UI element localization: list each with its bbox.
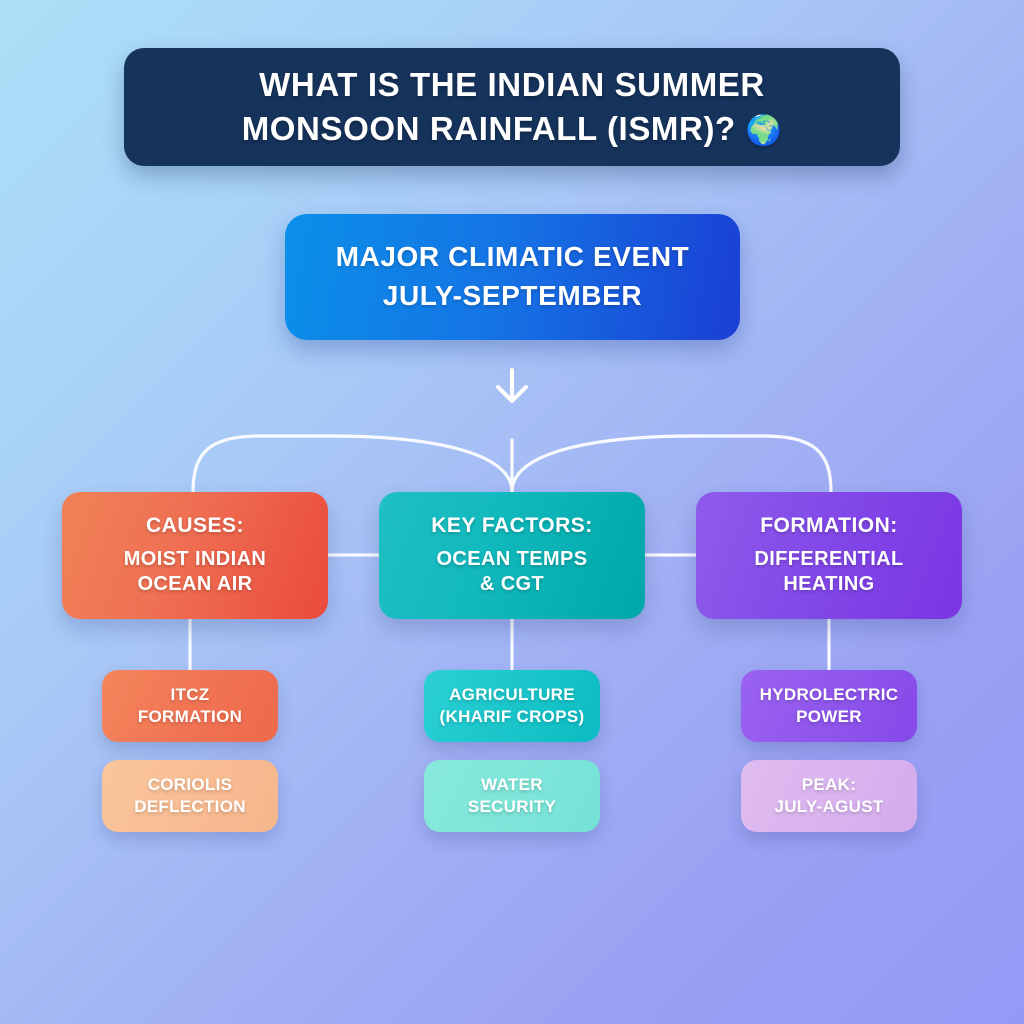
pill-water-security[interactable]: WATER SECURITY	[424, 760, 600, 832]
pill-water-security-line-2: SECURITY	[468, 797, 556, 816]
pill-water-security-text: WATER SECURITY	[468, 774, 556, 818]
pill-itcz-formation-text: ITCZ FORMATION	[138, 684, 242, 728]
pill-water-security-line-1: WATER	[481, 775, 543, 794]
infographic-canvas: WHAT IS THE INDIAN SUMMER MONSOON RAINFA…	[0, 0, 1024, 1024]
down-arrow-icon	[498, 370, 526, 401]
pill-itcz-formation-line-2: FORMATION	[138, 707, 242, 726]
branch-arc-right	[512, 436, 831, 492]
card-body-key-factors-line-2: & CGT	[480, 573, 544, 595]
card-header-key-factors: KEY FACTORS:	[431, 513, 593, 539]
main-card-formation[interactable]: FORMATION: DIFFERENTIAL HEATING	[696, 492, 962, 619]
pill-itcz-formation[interactable]: ITCZ FORMATION	[102, 670, 278, 742]
pill-coriolis-deflection[interactable]: CORIOLIS DEFLECTION	[102, 760, 278, 832]
card-body-key-factors: OCEAN TEMPS & CGT	[436, 547, 587, 598]
card-body-formation-line-2: HEATING	[783, 573, 874, 595]
card-body-causes-line-2: OCEAN AIR	[137, 573, 252, 595]
pill-agriculture[interactable]: AGRICULTURE (KHARIF CROPS)	[424, 670, 600, 742]
pill-hydrolectric-power-line-1: HYDROLECTRIC	[760, 685, 899, 704]
pill-coriolis-deflection-line-2: DEFLECTION	[134, 797, 246, 816]
globe-europe-africa-icon: 🌍	[746, 115, 783, 147]
card-body-formation-line-1: DIFFERENTIAL	[754, 548, 903, 570]
pill-coriolis-deflection-text: CORIOLIS DEFLECTION	[134, 774, 246, 818]
card-body-causes-line-1: MOIST INDIAN	[124, 548, 267, 570]
page-title: WHAT IS THE INDIAN SUMMER MONSOON RAINFA…	[242, 63, 783, 150]
pill-peak-july-agust-text: PEAK: JULY-AGUST	[774, 774, 883, 818]
card-body-key-factors-line-1: OCEAN TEMPS	[436, 548, 587, 570]
pill-agriculture-line-1: AGRICULTURE	[449, 685, 575, 704]
pill-hydrolectric-power[interactable]: HYDROLECTRIC POWER	[741, 670, 917, 742]
subtitle-line-1: MAJOR CLIMATIC EVENT	[336, 241, 690, 272]
page-title-line-2: MONSOON RAINFALL (ISMR)?	[242, 110, 736, 147]
subtitle-line-2: JULY-SEPTEMBER	[383, 280, 642, 311]
pill-agriculture-line-2: (KHARIF CROPS)	[440, 707, 585, 726]
pill-hydrolectric-power-line-2: POWER	[796, 707, 862, 726]
card-header-causes: CAUSES:	[146, 513, 244, 539]
card-header-formation: FORMATION:	[760, 513, 898, 539]
card-body-causes: MOIST INDIAN OCEAN AIR	[124, 547, 267, 598]
pill-itcz-formation-line-1: ITCZ	[171, 685, 210, 704]
pill-peak-july-agust[interactable]: PEAK: JULY-AGUST	[741, 760, 917, 832]
pill-peak-july-agust-line-2: JULY-AGUST	[774, 797, 883, 816]
page-title-banner: WHAT IS THE INDIAN SUMMER MONSOON RAINFA…	[124, 48, 900, 166]
pill-coriolis-deflection-line-1: CORIOLIS	[148, 775, 233, 794]
subtitle-banner: MAJOR CLIMATIC EVENT JULY-SEPTEMBER	[285, 214, 740, 340]
main-card-key-factors[interactable]: KEY FACTORS: OCEAN TEMPS & CGT	[379, 492, 645, 619]
branch-arc-left	[193, 436, 512, 492]
subtitle-text: MAJOR CLIMATIC EVENT JULY-SEPTEMBER	[336, 238, 690, 315]
pill-agriculture-text: AGRICULTURE (KHARIF CROPS)	[440, 684, 585, 728]
pill-hydrolectric-power-text: HYDROLECTRIC POWER	[760, 684, 899, 728]
pill-peak-july-agust-line-1: PEAK:	[802, 775, 856, 794]
page-title-line-1: WHAT IS THE INDIAN SUMMER	[259, 66, 765, 103]
card-body-formation: DIFFERENTIAL HEATING	[754, 547, 903, 598]
main-card-causes[interactable]: CAUSES: MOIST INDIAN OCEAN AIR	[62, 492, 328, 619]
